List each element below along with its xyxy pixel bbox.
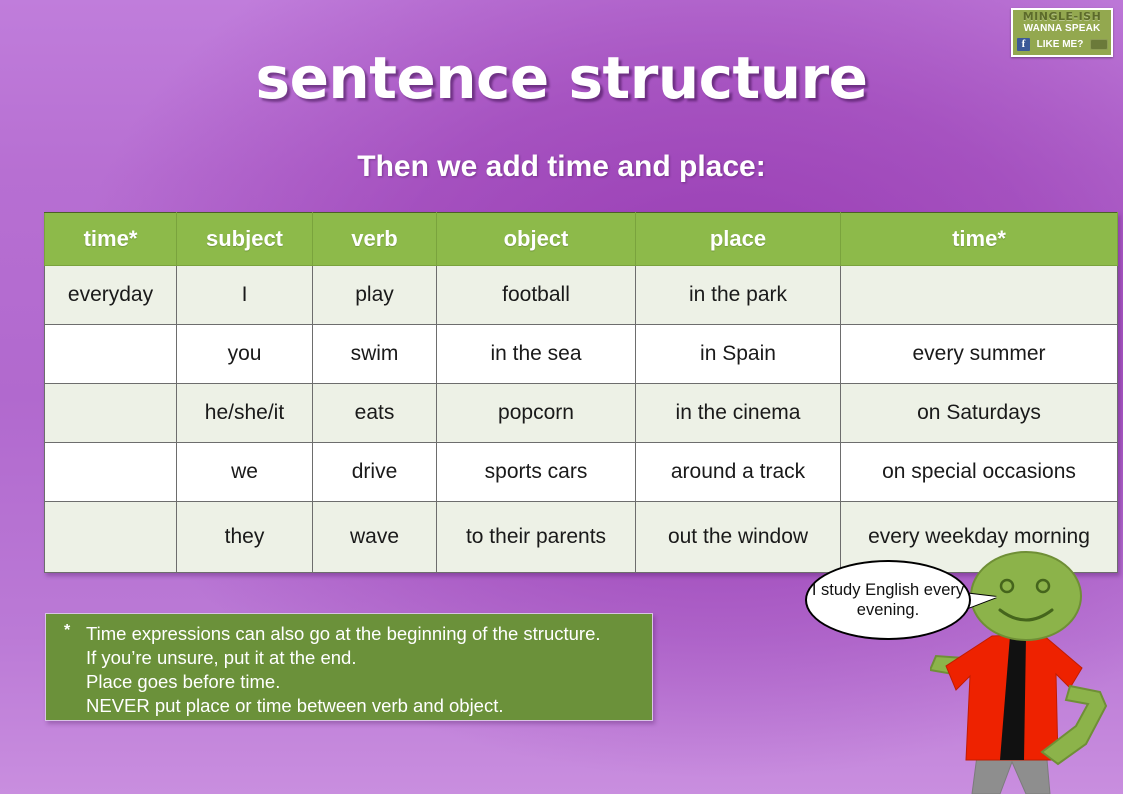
- cell-subject: I: [177, 266, 313, 325]
- cell-place: in the park: [636, 266, 841, 325]
- footnote-lines: Time expressions can also go at the begi…: [86, 622, 642, 718]
- cell-subject: he/she/it: [177, 384, 313, 443]
- footnote-box: * Time expressions can also go at the be…: [45, 613, 653, 721]
- footnote-line: NEVER put place or time between verb and…: [86, 694, 642, 718]
- cell-time-start: [45, 384, 177, 443]
- column-header-place: place: [636, 213, 841, 266]
- cell-subject: you: [177, 325, 313, 384]
- cell-time-start: [45, 443, 177, 502]
- sentence-structure-table: time* subject verb object place time* ev…: [44, 212, 1118, 573]
- logo-tagline-line1: WANNA SPEAK: [1013, 23, 1111, 34]
- cell-time-start: [45, 325, 177, 384]
- cell-verb: eats: [313, 384, 437, 443]
- column-header-subject: subject: [177, 213, 313, 266]
- cell-subject: we: [177, 443, 313, 502]
- slide-canvas: MINGLE-ISH WANNA SPEAK f LIKE ME? senten…: [0, 0, 1123, 794]
- cell-object: popcorn: [437, 384, 636, 443]
- cell-object: sports cars: [437, 443, 636, 502]
- cell-place: in Spain: [636, 325, 841, 384]
- cell-verb: wave: [313, 502, 437, 573]
- footnote-line: Time expressions can also go at the begi…: [86, 622, 642, 646]
- cell-verb: drive: [313, 443, 437, 502]
- table-row: he/she/it eats popcorn in the cinema on …: [45, 384, 1118, 443]
- cell-object: football: [437, 266, 636, 325]
- footnote-row: * Time expressions can also go at the be…: [56, 622, 642, 718]
- speech-bubble: I study English every evening.: [805, 560, 971, 640]
- cell-time-end: on Saturdays: [841, 384, 1118, 443]
- column-header-time-end: time*: [841, 213, 1118, 266]
- cell-place: in the cinema: [636, 384, 841, 443]
- cell-time-end: on special occasions: [841, 443, 1118, 502]
- cell-time-end: [841, 266, 1118, 325]
- cell-place: out the window: [636, 502, 841, 573]
- column-header-verb: verb: [313, 213, 437, 266]
- cell-verb: play: [313, 266, 437, 325]
- cell-object: in the sea: [437, 325, 636, 384]
- cell-time-end: every summer: [841, 325, 1118, 384]
- cell-verb: swim: [313, 325, 437, 384]
- cell-time-start: everyday: [45, 266, 177, 325]
- character-eye-left: [1001, 580, 1013, 592]
- character-eye-right: [1037, 580, 1049, 592]
- footnote-line: If you’re unsure, put it at the end.: [86, 646, 642, 670]
- cell-object: to their parents: [437, 502, 636, 573]
- page-title: sentence structure: [0, 44, 1123, 112]
- cell-time-start: [45, 502, 177, 573]
- cell-place: around a track: [636, 443, 841, 502]
- column-header-time-start: time*: [45, 213, 177, 266]
- table-header-row: time* subject verb object place time*: [45, 213, 1118, 266]
- logo-brand-text: MINGLE-ISH: [1013, 10, 1111, 23]
- cell-subject: they: [177, 502, 313, 573]
- footnote-line: Place goes before time.: [86, 670, 642, 694]
- column-header-object: object: [437, 213, 636, 266]
- table-row: everyday I play football in the park: [45, 266, 1118, 325]
- speech-bubble-text: I study English every evening.: [807, 580, 969, 620]
- asterisk-marker: *: [56, 622, 86, 640]
- table-row: you swim in the sea in Spain every summe…: [45, 325, 1118, 384]
- table-row: we drive sports cars around a track on s…: [45, 443, 1118, 502]
- page-subtitle: Then we add time and place:: [0, 150, 1123, 184]
